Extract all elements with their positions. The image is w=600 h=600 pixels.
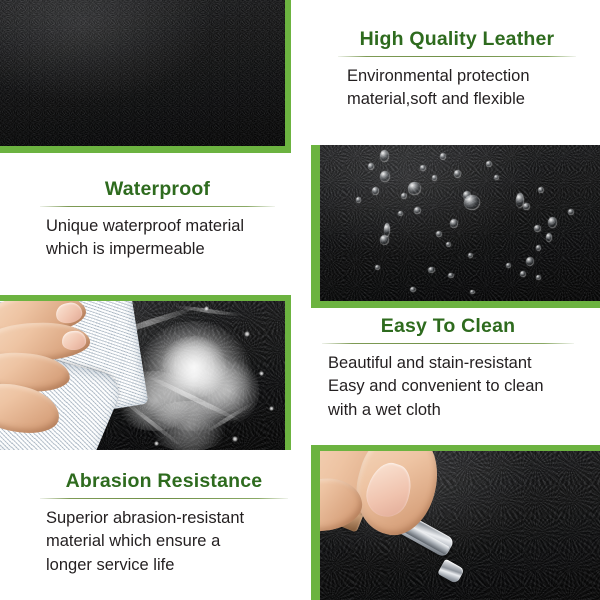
water-droplet bbox=[408, 182, 421, 195]
waterproof-photo-frame bbox=[311, 145, 600, 308]
water-droplet bbox=[428, 267, 435, 273]
water-droplet bbox=[534, 225, 541, 232]
water-droplet bbox=[486, 161, 492, 167]
feature-description-waterproof: Unique waterproof material which is impe… bbox=[40, 215, 275, 262]
feature-description-abrasion-resistance: Superior abrasion-resistant material whi… bbox=[40, 507, 288, 577]
title-underline bbox=[322, 343, 574, 344]
water-droplet bbox=[414, 207, 421, 214]
feature-description-easy-to-clean: Beautiful and stain-resistant Easy and c… bbox=[322, 352, 574, 422]
feature-description-high-quality-leather: Environmental protection material,soft a… bbox=[338, 65, 576, 112]
leather-texture bbox=[0, 0, 285, 146]
easy-to-clean-photo bbox=[0, 301, 285, 450]
water-droplet bbox=[568, 209, 574, 215]
water-droplet bbox=[410, 287, 416, 292]
water-droplet bbox=[436, 231, 442, 237]
water-droplet bbox=[398, 211, 403, 216]
feature-text-waterproof: Waterproof Unique waterproof material wh… bbox=[40, 178, 275, 262]
title-underline bbox=[40, 206, 275, 207]
water-droplet bbox=[372, 187, 379, 195]
water-droplet bbox=[375, 265, 380, 270]
water-droplet bbox=[506, 263, 511, 268]
water-droplet bbox=[520, 271, 526, 277]
powder-speck bbox=[204, 306, 209, 311]
water-droplet bbox=[450, 219, 458, 228]
powder-speck bbox=[269, 406, 274, 411]
abrasion-photo-frame bbox=[311, 445, 600, 600]
water-droplet bbox=[454, 170, 461, 178]
water-droplet bbox=[401, 193, 407, 199]
leather-swatch-photo bbox=[0, 0, 285, 146]
feature-title-high-quality-leather: High Quality Leather bbox=[338, 28, 576, 51]
water-droplet bbox=[470, 290, 475, 294]
water-droplet bbox=[468, 253, 473, 258]
water-droplet bbox=[463, 191, 471, 200]
water-droplet bbox=[494, 175, 499, 180]
product-feature-infographic: High Quality Leather Environmental prote… bbox=[0, 0, 600, 600]
water-droplet bbox=[448, 273, 454, 278]
water-droplet bbox=[380, 150, 389, 162]
feature-text-easy-to-clean: Easy To Clean Beautiful and stain-resist… bbox=[322, 315, 574, 422]
water-droplet bbox=[538, 187, 544, 193]
feature-title-abrasion-resistance: Abrasion Resistance bbox=[40, 470, 288, 493]
water-droplet bbox=[356, 197, 361, 203]
title-underline bbox=[338, 56, 576, 57]
water-droplet bbox=[526, 257, 534, 266]
water-droplet bbox=[536, 245, 541, 251]
powder-speck bbox=[259, 371, 264, 376]
feature-title-easy-to-clean: Easy To Clean bbox=[322, 315, 574, 338]
powder-speck bbox=[244, 331, 250, 337]
feature-title-waterproof: Waterproof bbox=[40, 178, 275, 201]
abrasion-photo bbox=[320, 451, 600, 600]
powder-speck bbox=[154, 441, 159, 446]
water-droplet bbox=[384, 223, 390, 237]
leather-swatch-photo-frame bbox=[0, 0, 291, 153]
water-droplet bbox=[432, 175, 437, 181]
leather-texture bbox=[320, 145, 600, 301]
water-droplet bbox=[440, 153, 446, 160]
title-underline bbox=[40, 498, 288, 499]
water-droplet bbox=[546, 233, 552, 242]
waterproof-photo bbox=[320, 145, 600, 301]
easy-to-clean-photo-frame bbox=[0, 295, 291, 450]
feature-text-high-quality-leather: High Quality Leather Environmental prote… bbox=[338, 28, 576, 112]
powder-speck bbox=[232, 436, 238, 442]
water-droplet bbox=[446, 242, 451, 247]
water-droplet bbox=[536, 275, 541, 280]
water-droplet bbox=[548, 217, 557, 228]
water-droplet bbox=[380, 171, 390, 182]
water-droplet bbox=[368, 163, 374, 170]
feature-text-abrasion-resistance: Abrasion Resistance Superior abrasion-re… bbox=[40, 470, 288, 577]
water-droplet bbox=[523, 203, 530, 210]
water-droplet bbox=[420, 165, 426, 171]
